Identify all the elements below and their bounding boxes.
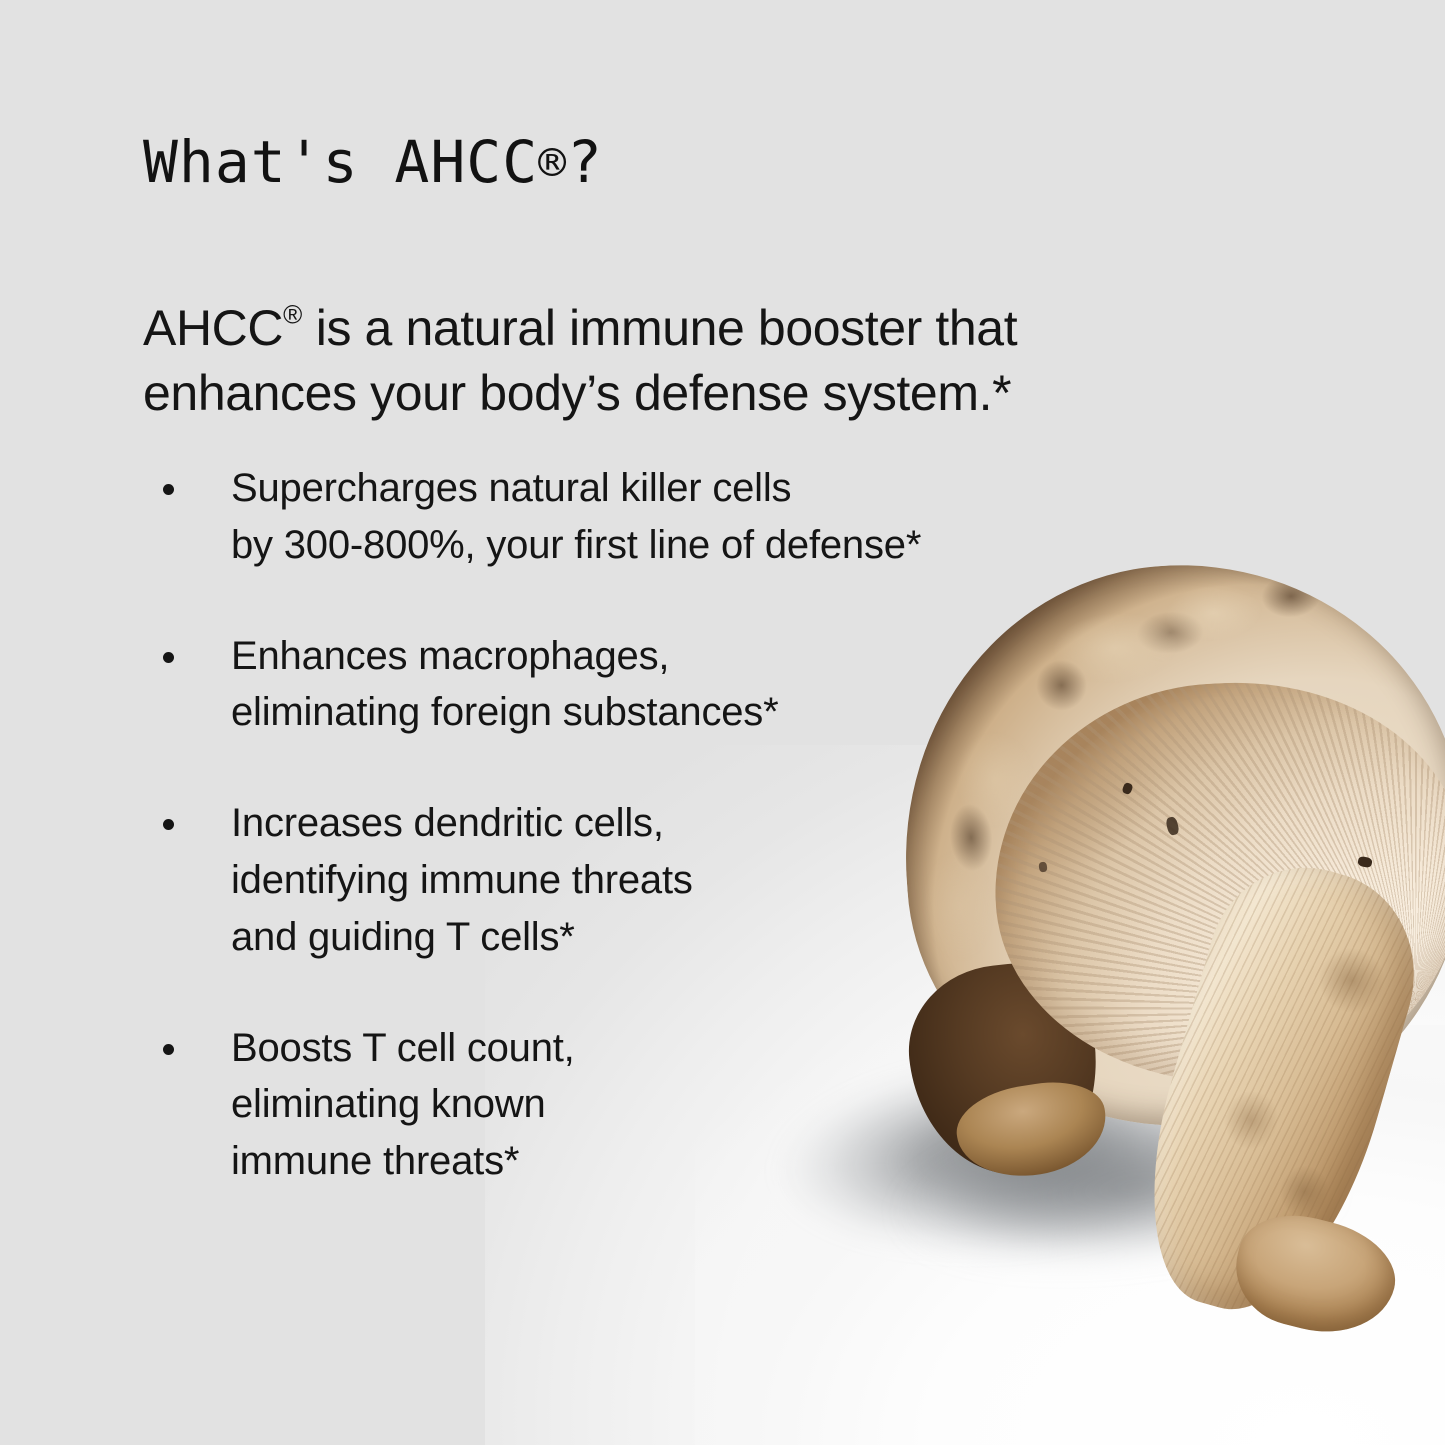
subtitle-brand: AHCC xyxy=(143,300,283,356)
ahcc-benefits-card: What's AHCC®? AHCC® is a natural immune … xyxy=(0,0,1445,1445)
bullet-dot-icon xyxy=(163,484,174,495)
bullet-dot-icon xyxy=(163,652,174,663)
list-item-line: eliminating known xyxy=(231,1076,1157,1133)
list-item: Increases dendritic cells, identifying i… xyxy=(157,795,1157,965)
list-item-line: eliminating foreign substances* xyxy=(231,684,1157,741)
mushroom-stem-base xyxy=(1224,1202,1406,1347)
list-item-line: by 300-800%, your first line of defense* xyxy=(231,517,1157,574)
page-title-text: What's AHCC xyxy=(143,128,538,196)
registered-trademark-icon: ® xyxy=(283,300,302,330)
subtitle-line1: is a natural immune booster that xyxy=(302,300,1017,356)
registered-trademark-icon: ® xyxy=(538,136,567,190)
page-title: What's AHCC®? xyxy=(143,131,603,195)
list-item-line: immune threats* xyxy=(231,1133,1157,1190)
subtitle-line2: enhances your body’s defense system.* xyxy=(143,365,1011,421)
mushroom-stem-texture xyxy=(1115,845,1439,1335)
list-item-line: Enhances macrophages, xyxy=(231,628,1157,685)
mushroom-fleck xyxy=(1165,816,1180,836)
subtitle: AHCC® is a natural immune booster thaten… xyxy=(143,296,1203,426)
bullet-dot-icon xyxy=(163,819,174,830)
bullet-dot-icon xyxy=(163,1044,174,1055)
list-item-line: Supercharges natural killer cells xyxy=(231,460,1157,517)
list-item: Supercharges natural killer cells by 300… xyxy=(157,460,1157,574)
mushroom-stem xyxy=(1115,845,1439,1335)
benefits-list: Supercharges natural killer cells by 300… xyxy=(157,460,1157,1190)
list-item-line: identifying immune threats xyxy=(231,852,1157,909)
list-item: Boosts T cell count, eliminating known i… xyxy=(157,1020,1157,1190)
list-item-line: Boosts T cell count, xyxy=(231,1020,1157,1077)
list-item: Enhances macrophages, eliminating foreig… xyxy=(157,628,1157,742)
list-item-line: and guiding T cells* xyxy=(231,909,1157,966)
mushroom-fleck xyxy=(1357,856,1373,869)
page-title-suffix: ? xyxy=(567,128,603,196)
list-item-line: Increases dendritic cells, xyxy=(231,795,1157,852)
